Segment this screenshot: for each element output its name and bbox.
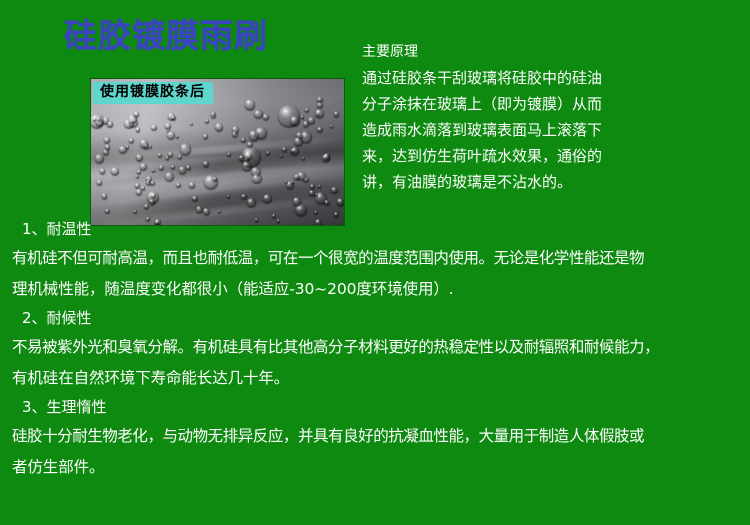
- water-droplet: [149, 199, 155, 205]
- water-droplet: [241, 194, 246, 199]
- water-droplet: [95, 154, 104, 163]
- principle-line: 分子涂抹在玻璃上（即为镀膜）从而: [362, 91, 738, 117]
- water-droplet: [141, 186, 145, 190]
- water-droplet: [318, 185, 321, 188]
- water-droplet: [203, 134, 208, 139]
- water-droplet: [152, 169, 155, 172]
- water-droplet: [140, 139, 149, 148]
- principle-heading: 主要原理: [362, 40, 738, 65]
- water-droplet: [308, 117, 315, 124]
- water-droplet: [104, 137, 110, 143]
- product-photo: 使用镀膜胶条后: [90, 78, 345, 226]
- water-droplet: [215, 123, 223, 131]
- photo-caption-badge: 使用镀膜胶条后: [93, 82, 213, 104]
- water-droplet: [302, 157, 305, 160]
- section-heading: 3、生理惰性: [0, 394, 750, 421]
- water-droplet: [301, 115, 304, 118]
- water-droplet: [290, 116, 299, 125]
- section-heading: 2、耐候性: [0, 305, 750, 332]
- principle-line: 通过硅胶条干刮玻璃将硅胶中的硅油: [362, 65, 738, 91]
- water-droplet: [105, 209, 109, 213]
- water-droplet: [280, 155, 283, 158]
- water-droplet: [239, 155, 245, 161]
- section-line: 理机械性能，随温度变化都很小（能适应-30~200度环境使用）.: [0, 274, 750, 305]
- section-line: 不易被紫外光和臭氧分解。有机硅具有比其他高分子材料更好的热稳定性以及耐辐照和耐候…: [0, 332, 750, 363]
- water-droplet: [324, 200, 329, 205]
- principle-line: 讲，有油膜的玻璃是不沾水的。: [362, 169, 738, 195]
- water-droplet: [136, 154, 143, 161]
- section-heading: 1、耐温性: [0, 216, 750, 243]
- principle-line: 造成雨水滴落到玻璃表面马上滚落下: [362, 117, 738, 143]
- water-droplet: [310, 184, 315, 189]
- water-droplet: [168, 152, 173, 157]
- water-droplet: [291, 181, 294, 184]
- water-droplet: [317, 97, 322, 102]
- feature-section-2: 2、耐候性 不易被紫外光和臭氧分解。有机硅具有比其他高分子材料更好的热稳定性以及…: [0, 305, 750, 394]
- water-droplet: [242, 161, 252, 171]
- water-droplet: [293, 197, 302, 206]
- water-droplet: [189, 182, 195, 188]
- section-line: 有机硅在自然环境下寿命能长达几十年。: [0, 363, 750, 394]
- feature-section-1: 1、耐温性 有机硅不但可耐高温，而且也耐低温，可在一个很宽的温度范围内使用。无论…: [0, 216, 750, 305]
- water-droplet: [211, 112, 216, 117]
- water-droplet: [165, 172, 173, 180]
- water-droplet: [150, 181, 155, 186]
- water-droplet: [294, 174, 300, 180]
- water-droplet: [252, 174, 261, 183]
- water-droplet: [315, 193, 318, 196]
- section-line: 硅胶十分耐生物老化，与动物无排异反应，并具有良好的抗凝血性能，大量用于制造人体假…: [0, 421, 750, 452]
- water-droplet: [322, 154, 330, 162]
- water-droplet: [291, 147, 299, 155]
- water-droplet: [330, 125, 333, 128]
- water-droplet: [102, 193, 108, 199]
- water-droplet: [192, 196, 197, 201]
- principle-line: 来，达到仿生荷叶疏水效果，通俗的: [362, 143, 738, 169]
- principle-block: 主要原理 通过硅胶条干刮玻璃将硅胶中的硅油 分子涂抹在玻璃上（即为镀膜）从而 造…: [362, 40, 738, 195]
- water-droplet: [105, 144, 110, 149]
- water-droplet: [213, 177, 217, 181]
- section-line: 有机硅不但可耐高温，而且也耐低温，可在一个很宽的温度范围内使用。无论是化学性能还…: [0, 243, 750, 274]
- water-droplet: [263, 114, 269, 120]
- water-droplet: [247, 142, 252, 147]
- water-droplet: [140, 163, 147, 170]
- water-droplet: [331, 187, 338, 194]
- water-droplet: [317, 127, 322, 132]
- water-droplet: [186, 165, 191, 170]
- water-droplet: [137, 170, 141, 174]
- water-droplet: [315, 109, 324, 118]
- water-droplet: [227, 153, 231, 157]
- water-droplet: [334, 111, 339, 116]
- water-droplet: [119, 146, 127, 154]
- water-droplet: [203, 161, 209, 167]
- water-droplet: [176, 183, 180, 187]
- water-droplet: [205, 119, 209, 123]
- feature-sections: 1、耐温性 有机硅不但可耐高温，而且也耐低温，可在一个很宽的温度范围内使用。无论…: [0, 216, 750, 483]
- water-droplet: [151, 193, 156, 198]
- water-droplet: [167, 131, 175, 139]
- water-droplet: [97, 180, 101, 184]
- water-droplet: [107, 121, 112, 126]
- water-droplet: [136, 127, 141, 132]
- water-droplet: [124, 119, 133, 128]
- water-droplet: [135, 183, 140, 188]
- water-droplet: [254, 110, 263, 119]
- section-line: 者仿生部件。: [0, 452, 750, 483]
- product-detail-page: 硅胶镀膜雨刷 使用镀膜胶条后 主要原理 通过硅胶条干刮玻璃将硅胶中的硅油 分子涂…: [0, 0, 750, 525]
- page-title: 硅胶镀膜雨刷: [64, 18, 268, 54]
- water-droplet: [203, 208, 210, 215]
- water-droplet: [100, 168, 106, 174]
- feature-section-3: 3、生理惰性 硅胶十分耐生物老化，与动物无排异反应，并具有良好的抗凝血性能，大量…: [0, 394, 750, 483]
- water-droplet: [136, 175, 139, 178]
- water-droplet: [97, 117, 101, 121]
- water-droplet: [294, 137, 303, 146]
- water-droplet: [134, 111, 140, 117]
- water-droplet: [158, 153, 162, 157]
- water-droplet: [151, 125, 156, 130]
- water-droplet: [166, 156, 169, 159]
